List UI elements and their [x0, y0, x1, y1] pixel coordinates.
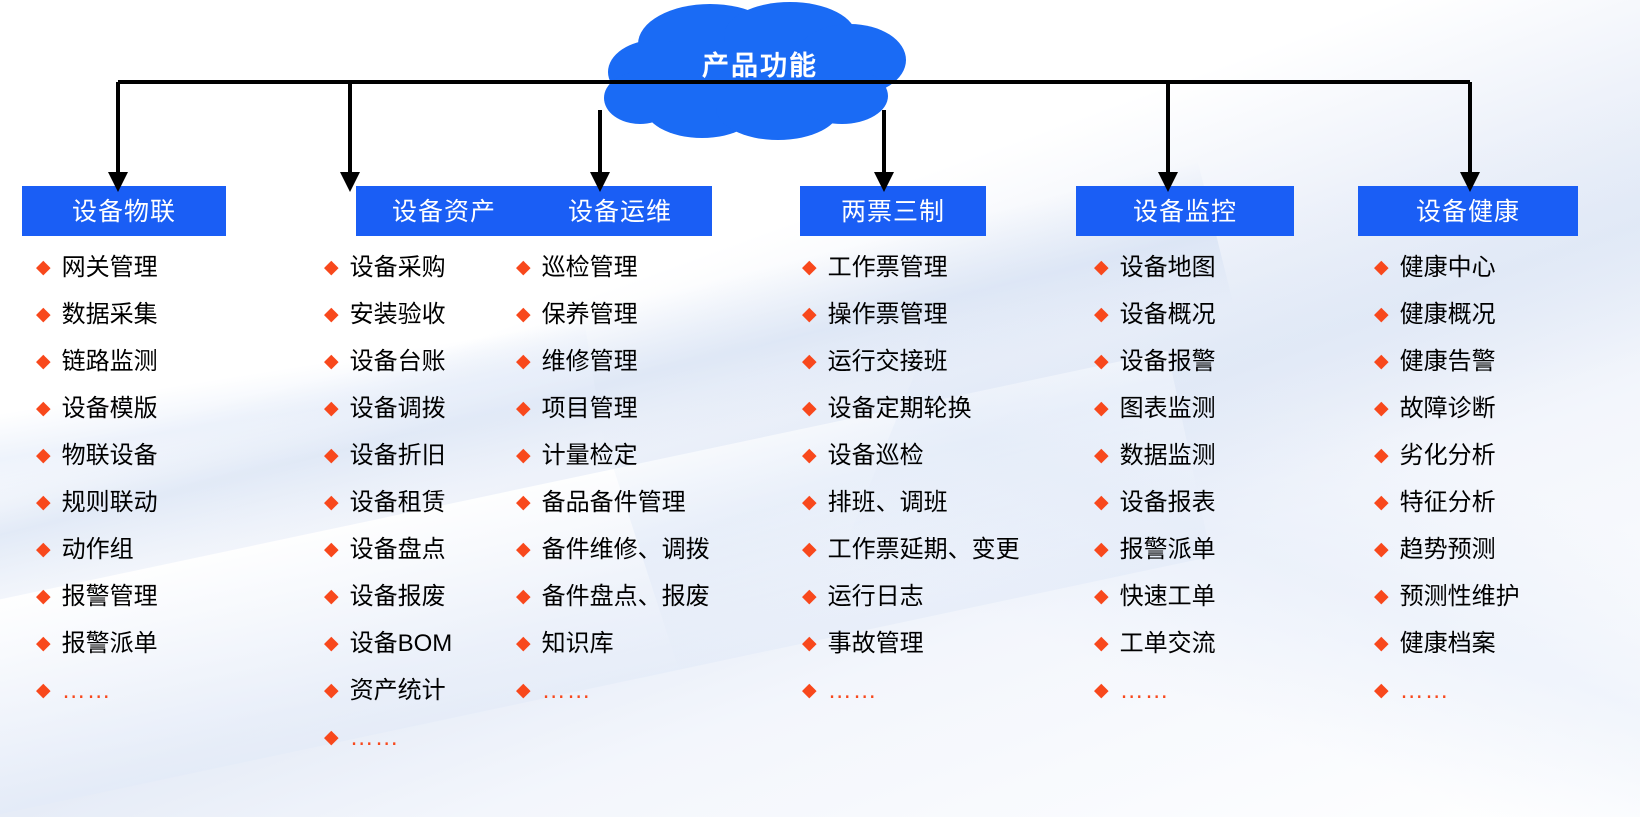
- feature-item[interactable]: ◆ 计量检定: [516, 444, 792, 468]
- diamond-bullet-icon: ◆: [1374, 540, 1389, 559]
- feature-item[interactable]: ◆ 设备盘点: [324, 538, 508, 562]
- diamond-bullet-icon: ◆: [1374, 446, 1389, 465]
- feature-item[interactable]: ◆ 报警派单: [36, 632, 258, 656]
- diamond-bullet-icon: ◆: [36, 681, 51, 700]
- feature-item[interactable]: ◆ 设备报警: [1094, 350, 1358, 374]
- diamond-bullet-icon: ◆: [324, 258, 339, 277]
- feature-item[interactable]: ◆ 健康档案: [1374, 632, 1640, 656]
- feature-item[interactable]: ◆ 设备报废: [324, 585, 508, 609]
- feature-item[interactable]: ◆ 劣化分析: [1374, 444, 1640, 468]
- diamond-bullet-icon: ◆: [516, 634, 531, 653]
- diamond-bullet-icon: ◆: [324, 728, 339, 747]
- feature-list-2: ◆ 设备采购 ◆ 安装验收 ◆ 设备台账 ◆ 设备调拨 ◆ 设备折旧: [272, 256, 508, 750]
- feature-item[interactable]: ◆ 维修管理: [516, 350, 792, 374]
- diamond-bullet-icon: ◆: [516, 446, 531, 465]
- feature-item-more[interactable]: ◆ ……: [324, 726, 508, 750]
- diamond-bullet-icon: ◆: [36, 493, 51, 512]
- feature-item[interactable]: ◆ 图表监测: [1094, 397, 1358, 421]
- diamond-bullet-icon: ◆: [36, 305, 51, 324]
- feature-item[interactable]: ◆ 设备定期轮换: [802, 397, 1076, 421]
- connector-lines: [0, 0, 1640, 260]
- feature-item[interactable]: ◆ 项目管理: [516, 397, 792, 421]
- category-column-3: 设备运维 ◆ 巡检管理 ◆ 保养管理 ◆ 维修管理 ◆ 项目管理: [508, 186, 792, 773]
- feature-item-more[interactable]: ◆ ……: [802, 679, 1076, 703]
- diamond-bullet-icon: ◆: [1374, 634, 1389, 653]
- feature-item[interactable]: ◆ 特征分析: [1374, 491, 1640, 515]
- feature-item-more[interactable]: ◆ ……: [516, 679, 792, 703]
- diamond-bullet-icon: ◆: [802, 446, 817, 465]
- diamond-bullet-icon: ◆: [802, 352, 817, 371]
- diamond-bullet-icon: ◆: [802, 681, 817, 700]
- diamond-bullet-icon: ◆: [1374, 681, 1389, 700]
- feature-item[interactable]: ◆ 设备概况: [1094, 303, 1358, 327]
- feature-item[interactable]: ◆ 报警管理: [36, 585, 258, 609]
- feature-item[interactable]: ◆ 设备台账: [324, 350, 508, 374]
- diamond-bullet-icon: ◆: [36, 446, 51, 465]
- feature-list-6: ◆ 健康中心 ◆ 健康概况 ◆ 健康告警 ◆ 故障诊断 ◆ 劣化分析: [1358, 256, 1640, 703]
- diamond-bullet-icon: ◆: [1374, 258, 1389, 277]
- feature-item[interactable]: ◆ 快速工单: [1094, 585, 1358, 609]
- category-column-4: 两票三制 ◆ 工作票管理 ◆ 操作票管理 ◆ 运行交接班 ◆ 设备定期轮换: [792, 186, 1076, 773]
- feature-item[interactable]: ◆ 设备BOM: [324, 632, 508, 656]
- diamond-bullet-icon: ◆: [802, 540, 817, 559]
- diamond-bullet-icon: ◆: [36, 352, 51, 371]
- feature-item[interactable]: ◆ 设备折旧: [324, 444, 508, 468]
- diamond-bullet-icon: ◆: [516, 540, 531, 559]
- diamond-bullet-icon: ◆: [802, 258, 817, 277]
- feature-item[interactable]: ◆ 工作票延期、变更: [802, 538, 1076, 562]
- feature-item[interactable]: ◆ 备件维修、调拨: [516, 538, 792, 562]
- diamond-bullet-icon: ◆: [324, 587, 339, 606]
- diamond-bullet-icon: ◆: [324, 399, 339, 418]
- category-column-5: 设备监控 ◆ 设备地图 ◆ 设备概况 ◆ 设备报警 ◆ 图表监测: [1076, 186, 1358, 773]
- feature-item[interactable]: ◆ 运行交接班: [802, 350, 1076, 374]
- feature-item[interactable]: ◆ 预测性维护: [1374, 585, 1640, 609]
- feature-item[interactable]: ◆ 报警派单: [1094, 538, 1358, 562]
- feature-item-more[interactable]: ◆ ……: [1094, 679, 1358, 703]
- category-column-1: 设备物联 ◆ 网关管理 ◆ 数据采集 ◆ 链路监测 ◆ 设备模版: [0, 186, 258, 773]
- feature-item[interactable]: ◆ 操作票管理: [802, 303, 1076, 327]
- feature-item[interactable]: ◆ 备品备件管理: [516, 491, 792, 515]
- diamond-bullet-icon: ◆: [324, 634, 339, 653]
- feature-list-1: ◆ 网关管理 ◆ 数据采集 ◆ 链路监测 ◆ 设备模版 ◆ 物联设备: [22, 256, 258, 703]
- diamond-bullet-icon: ◆: [1374, 305, 1389, 324]
- diamond-bullet-icon: ◆: [1094, 446, 1109, 465]
- feature-item[interactable]: ◆ 运行日志: [802, 585, 1076, 609]
- feature-item[interactable]: ◆ 设备巡检: [802, 444, 1076, 468]
- feature-item[interactable]: ◆ 排班、调班: [802, 491, 1076, 515]
- diamond-bullet-icon: ◆: [802, 399, 817, 418]
- category-column-6: 设备健康 ◆ 健康中心 ◆ 健康概况 ◆ 健康告警 ◆ 故障诊断: [1358, 186, 1640, 773]
- feature-item[interactable]: ◆ 设备调拨: [324, 397, 508, 421]
- feature-item[interactable]: ◆ 事故管理: [802, 632, 1076, 656]
- diamond-bullet-icon: ◆: [516, 352, 531, 371]
- diamond-bullet-icon: ◆: [516, 587, 531, 606]
- diamond-bullet-icon: ◆: [324, 352, 339, 371]
- feature-item[interactable]: ◆ 安装验收: [324, 303, 508, 327]
- diamond-bullet-icon: ◆: [324, 446, 339, 465]
- diamond-bullet-icon: ◆: [516, 493, 531, 512]
- diamond-bullet-icon: ◆: [802, 493, 817, 512]
- diamond-bullet-icon: ◆: [36, 540, 51, 559]
- diamond-bullet-icon: ◆: [1094, 258, 1109, 277]
- diamond-bullet-icon: ◆: [1094, 352, 1109, 371]
- diamond-bullet-icon: ◆: [36, 258, 51, 277]
- diamond-bullet-icon: ◆: [802, 305, 817, 324]
- feature-item[interactable]: ◆ 资产统计: [324, 679, 508, 703]
- diamond-bullet-icon: ◆: [324, 540, 339, 559]
- diamond-bullet-icon: ◆: [1374, 399, 1389, 418]
- diamond-bullet-icon: ◆: [1374, 352, 1389, 371]
- feature-item[interactable]: ◆ 动作组: [36, 538, 258, 562]
- feature-item[interactable]: ◆ 工单交流: [1094, 632, 1358, 656]
- diamond-bullet-icon: ◆: [1374, 587, 1389, 606]
- diamond-bullet-icon: ◆: [1094, 399, 1109, 418]
- diamond-bullet-icon: ◆: [516, 681, 531, 700]
- feature-item[interactable]: ◆ 健康告警: [1374, 350, 1640, 374]
- diamond-bullet-icon: ◆: [36, 587, 51, 606]
- diamond-bullet-icon: ◆: [1094, 305, 1109, 324]
- feature-item[interactable]: ◆ 故障诊断: [1374, 397, 1640, 421]
- category-columns: 设备物联 ◆ 网关管理 ◆ 数据采集 ◆ 链路监测 ◆ 设备模版: [0, 186, 1640, 773]
- diamond-bullet-icon: ◆: [1374, 493, 1389, 512]
- diamond-bullet-icon: ◆: [324, 681, 339, 700]
- diamond-bullet-icon: ◆: [1094, 493, 1109, 512]
- diamond-bullet-icon: ◆: [802, 634, 817, 653]
- diamond-bullet-icon: ◆: [516, 305, 531, 324]
- feature-item[interactable]: ◆ 知识库: [516, 632, 792, 656]
- feature-item[interactable]: ◆ 规则联动: [36, 491, 258, 515]
- feature-item[interactable]: ◆ 设备租赁: [324, 491, 508, 515]
- feature-item[interactable]: ◆ 趋势预测: [1374, 538, 1640, 562]
- diamond-bullet-icon: ◆: [516, 258, 531, 277]
- feature-item-more[interactable]: ◆ ……: [1374, 679, 1640, 703]
- feature-item[interactable]: ◆ 数据监测: [1094, 444, 1358, 468]
- feature-item[interactable]: ◆ 设备模版: [36, 397, 258, 421]
- diamond-bullet-icon: ◆: [1094, 681, 1109, 700]
- diamond-bullet-icon: ◆: [36, 634, 51, 653]
- feature-item[interactable]: ◆ 链路监测: [36, 350, 258, 374]
- feature-item[interactable]: ◆ 保养管理: [516, 303, 792, 327]
- diamond-bullet-icon: ◆: [1094, 634, 1109, 653]
- feature-item-more[interactable]: ◆ ……: [36, 679, 258, 703]
- feature-list-4: ◆ 工作票管理 ◆ 操作票管理 ◆ 运行交接班 ◆ 设备定期轮换 ◆ 设备巡: [792, 256, 1076, 703]
- diamond-bullet-icon: ◆: [516, 399, 531, 418]
- feature-list-5: ◆ 设备地图 ◆ 设备概况 ◆ 设备报警 ◆ 图表监测 ◆ 数据监测: [1076, 256, 1358, 703]
- feature-item[interactable]: ◆ 设备报表: [1094, 491, 1358, 515]
- feature-list-3: ◆ 巡检管理 ◆ 保养管理 ◆ 维修管理 ◆ 项目管理 ◆ 计量检定: [508, 256, 792, 703]
- feature-item[interactable]: ◆ 健康概况: [1374, 303, 1640, 327]
- feature-item[interactable]: ◆ 数据采集: [36, 303, 258, 327]
- diamond-bullet-icon: ◆: [324, 305, 339, 324]
- category-column-2: 设备资产 ◆ 设备采购 ◆ 安装验收 ◆ 设备台账 ◆ 设备调拨: [258, 186, 508, 773]
- diamond-bullet-icon: ◆: [802, 587, 817, 606]
- feature-item[interactable]: ◆ 物联设备: [36, 444, 258, 468]
- feature-item[interactable]: ◆ 备件盘点、报废: [516, 585, 792, 609]
- diamond-bullet-icon: ◆: [36, 399, 51, 418]
- diamond-bullet-icon: ◆: [324, 493, 339, 512]
- diamond-bullet-icon: ◆: [1094, 540, 1109, 559]
- diamond-bullet-icon: ◆: [1094, 587, 1109, 606]
